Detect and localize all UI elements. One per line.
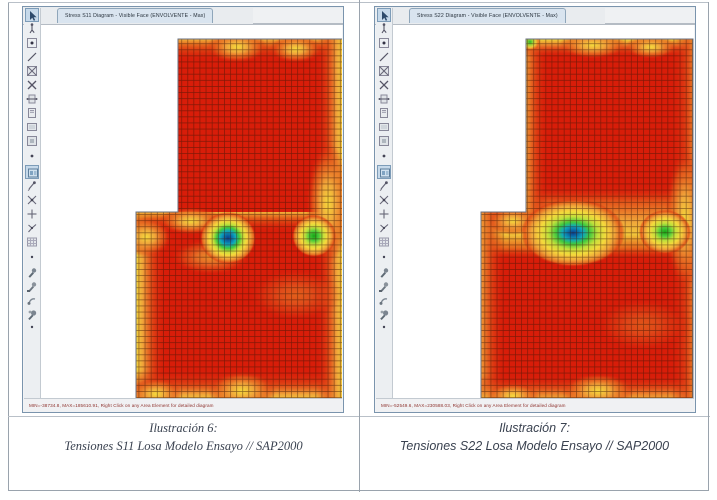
assign-frame-release-icon[interactable]	[377, 294, 391, 308]
figure-caption-left: Ilustración 6: Tensiones S11 Losa Modelo…	[8, 420, 359, 456]
assign-frame-release-icon[interactable]	[25, 294, 39, 308]
slab-mesh-region-right	[477, 31, 694, 398]
assign-joint-spring-icon[interactable]	[377, 280, 391, 294]
cell-divider-right	[360, 416, 710, 417]
draw-special-joint-icon[interactable]	[377, 193, 391, 207]
select-intersecting-line-icon[interactable]	[377, 92, 391, 106]
set-display-options-icon[interactable]	[25, 22, 39, 36]
caption-label-7: Ilustración 7:	[360, 420, 709, 437]
figure-caption-right: Ilustración 7: Tensiones S22 Losa Modelo…	[360, 420, 709, 456]
caption-text-7: Tensiones S22 Losa Modelo Ensayo // SAP2…	[360, 437, 709, 456]
dot-icon[interactable]	[377, 148, 391, 162]
select-intersecting-line-icon[interactable]	[25, 92, 39, 106]
assign-solid-icon[interactable]	[25, 134, 39, 148]
bottom-dot-icon[interactable]	[25, 322, 39, 336]
restore-full-view-icon[interactable]	[377, 165, 391, 179]
clear-selection-icon[interactable]	[25, 78, 39, 92]
tab-strip-left: Stress S11 Diagram - Visible Face (ENVOL…	[23, 7, 343, 25]
cell-divider-left	[8, 416, 359, 417]
draw-joint-icon[interactable]	[25, 179, 39, 193]
small-dot-icon[interactable]	[25, 249, 39, 263]
clear-selection-icon[interactable]	[377, 78, 391, 92]
draw-joint-icon[interactable]	[377, 179, 391, 193]
assign-joint-restraint-icon[interactable]	[377, 266, 391, 280]
tab-strip-right: Stress S22 Diagram - Visible Face (ENVOL…	[375, 7, 695, 25]
figure-table: Stress S11 Diagram - Visible Face (ENVOL…	[8, 0, 709, 492]
select-area-object-icon[interactable]	[377, 64, 391, 78]
bottom-dot-icon[interactable]	[377, 322, 391, 336]
draw-quad-area-icon[interactable]	[377, 221, 391, 235]
vertical-toolbar-left[interactable]	[24, 8, 41, 412]
small-dot-icon[interactable]	[377, 249, 391, 263]
slab-mesh-region-left	[120, 31, 342, 398]
figure-cell-right: Stress S22 Diagram - Visible Face (ENVOL…	[359, 0, 709, 492]
tab-stress-s22[interactable]: Stress S22 Diagram - Visible Face (ENVOL…	[409, 8, 566, 23]
select-line-object-icon[interactable]	[377, 50, 391, 64]
dot-icon[interactable]	[25, 148, 39, 162]
assign-joint-spring-icon[interactable]	[25, 280, 39, 294]
assign-frame-icon[interactable]	[25, 106, 39, 120]
status-bar-left: MIN=-38734.8, MAX=185610.91, Right Click…	[24, 398, 342, 412]
model-canvas-right[interactable]	[393, 25, 694, 398]
restore-full-view-icon[interactable]	[25, 165, 39, 179]
tab-stress-s11[interactable]: Stress S11 Diagram - Visible Face (ENVOL…	[57, 8, 213, 23]
assign-solid-icon[interactable]	[377, 134, 391, 148]
select-line-object-icon[interactable]	[25, 50, 39, 64]
select-point-object-icon[interactable]	[377, 36, 391, 50]
stress-contour-s22	[393, 25, 694, 398]
draw-rectangular-area-icon[interactable]	[377, 235, 391, 249]
status-bar-right: MIN=-52549.6, MAX=230588.03, Right Click…	[376, 398, 694, 412]
assign-load-icon[interactable]	[25, 308, 39, 322]
draw-frame-element-icon[interactable]	[377, 207, 391, 221]
draw-frame-element-icon[interactable]	[25, 207, 39, 221]
caption-text-6: Tensiones S11 Losa Modelo Ensayo // SAP2…	[8, 437, 359, 456]
select-area-object-icon[interactable]	[25, 64, 39, 78]
draw-special-joint-icon[interactable]	[25, 193, 39, 207]
assign-frame-icon[interactable]	[377, 106, 391, 120]
draw-rectangular-area-icon[interactable]	[25, 235, 39, 249]
select-point-object-icon[interactable]	[25, 36, 39, 50]
assign-area-icon[interactable]	[25, 120, 39, 134]
draw-quad-area-icon[interactable]	[25, 221, 39, 235]
pointer-arrow-icon[interactable]	[25, 8, 39, 22]
assign-load-icon[interactable]	[377, 308, 391, 322]
sap2000-window-s22: Stress S22 Diagram - Visible Face (ENVOL…	[374, 6, 696, 413]
tab-strip-filler-left	[253, 8, 343, 24]
caption-label-6: Ilustración 6:	[8, 420, 359, 437]
assign-area-icon[interactable]	[377, 120, 391, 134]
assign-joint-restraint-icon[interactable]	[25, 266, 39, 280]
figure-cell-left: Stress S11 Diagram - Visible Face (ENVOL…	[8, 0, 359, 492]
sap2000-window-s11: Stress S11 Diagram - Visible Face (ENVOL…	[22, 6, 344, 413]
tab-strip-filler-right	[605, 8, 695, 24]
model-canvas-left[interactable]	[41, 25, 342, 398]
stress-contour-s11	[41, 25, 342, 398]
set-display-options-icon[interactable]	[377, 22, 391, 36]
pointer-arrow-icon[interactable]	[377, 8, 391, 22]
vertical-toolbar-right[interactable]	[376, 8, 393, 412]
